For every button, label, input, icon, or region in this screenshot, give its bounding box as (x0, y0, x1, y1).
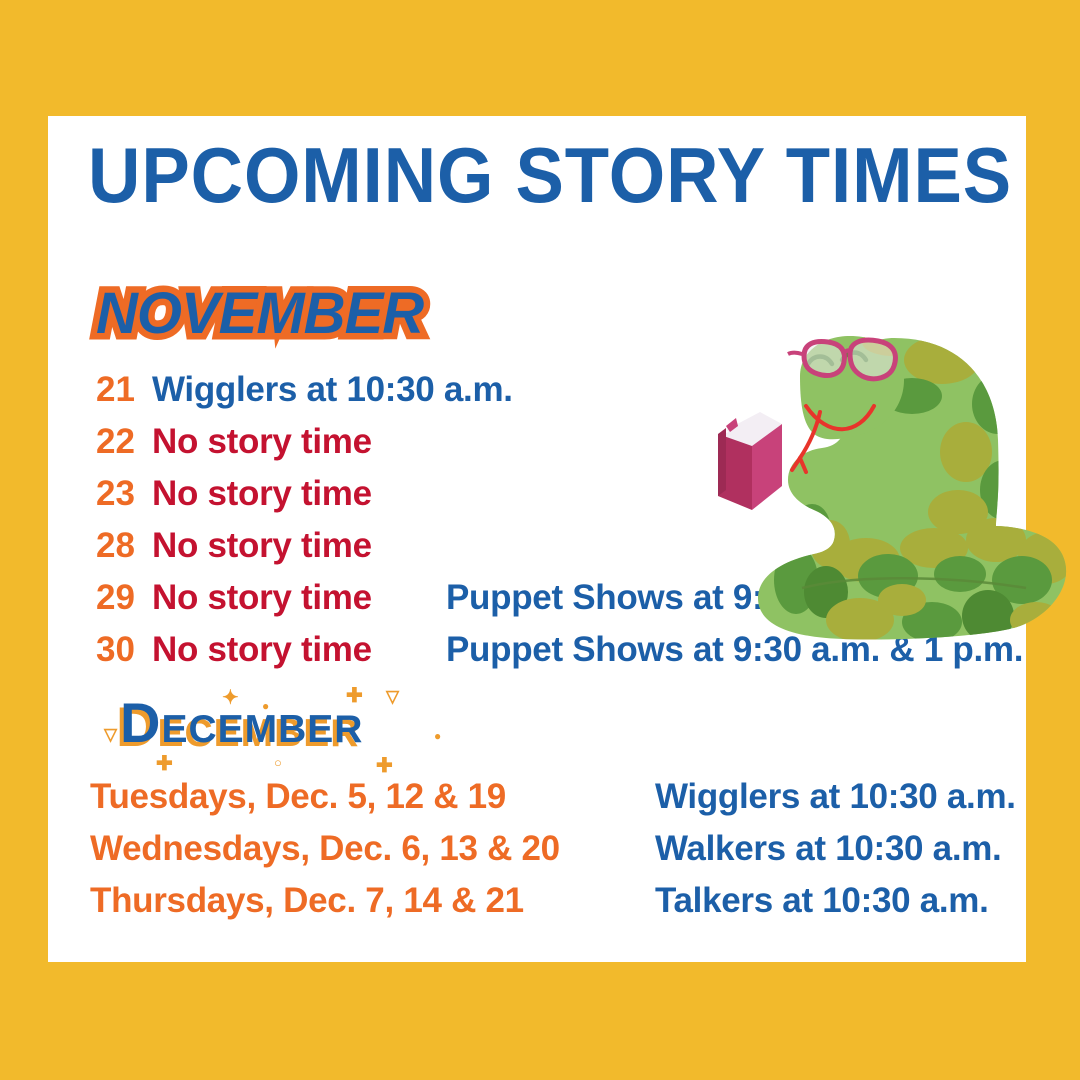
row-date: 23 (96, 468, 152, 520)
row-program: Wigglers at 10:30 a.m. (655, 771, 1016, 823)
sparkle-icon: ▽ (386, 688, 399, 705)
december-schedule-list: Tuesdays, Dec. 5, 12 & 19 Wigglers at 10… (90, 771, 1020, 927)
row-program: No story time (152, 572, 372, 624)
november-heading: NOVEMBER (96, 281, 423, 348)
row-program: No story time (152, 416, 372, 468)
row-days: Thursdays, Dec. 7, 14 & 21 (90, 875, 524, 927)
table-row: Tuesdays, Dec. 5, 12 & 19 Wigglers at 10… (90, 771, 1020, 823)
november-heading-wrap: NOVEMBER (96, 281, 423, 353)
poster-card: UPCOMING STORY TIMES NOVEMBER 21Wigglers… (48, 116, 1026, 962)
december-heading: December (120, 690, 363, 755)
row-date: 28 (96, 520, 152, 572)
december-heading-wrap: ▽ ✦ ● ✚ ▽ ● ✚ ○ ✚ December (104, 686, 524, 766)
poster-root: UPCOMING STORY TIMES NOVEMBER 21Wigglers… (0, 0, 1080, 1080)
page-title: UPCOMING STORY TIMES (88, 136, 944, 214)
sparkle-icon: ○ (274, 756, 282, 769)
row-days: Wednesdays, Dec. 6, 13 & 20 (90, 823, 560, 875)
row-program: Talkers at 10:30 a.m. (655, 875, 989, 927)
row-program: Wigglers at 10:30 a.m. (152, 364, 513, 416)
row-program: No story time (152, 468, 372, 520)
table-row: Thursdays, Dec. 7, 14 & 21 Talkers at 10… (90, 875, 1020, 927)
row-date: 30 (96, 624, 152, 676)
row-date: 21 (96, 364, 152, 416)
sparkle-icon: ▽ (104, 726, 117, 743)
row-program: No story time (152, 624, 372, 676)
book-icon (718, 412, 782, 510)
sparkle-icon: ● (434, 730, 441, 742)
table-row: Wednesdays, Dec. 6, 13 & 20 Walkers at 1… (90, 823, 1020, 875)
row-program: No story time (152, 520, 372, 572)
snake-reading-book-illustration (696, 330, 1080, 670)
row-days: Tuesdays, Dec. 5, 12 & 19 (90, 771, 506, 823)
row-date: 22 (96, 416, 152, 468)
row-program: Walkers at 10:30 a.m. (655, 823, 1002, 875)
row-date: 29 (96, 572, 152, 624)
